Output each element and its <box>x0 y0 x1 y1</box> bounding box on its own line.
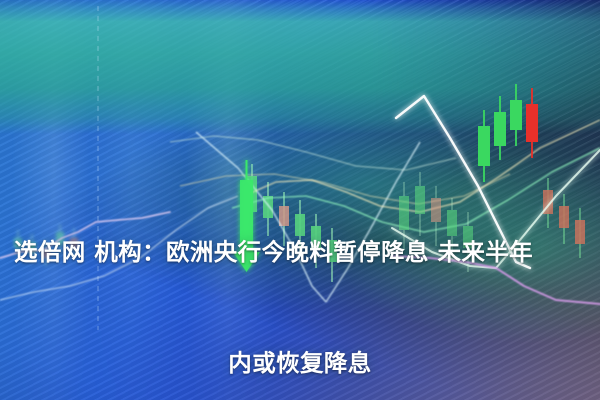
headline-line-2: 内或恢复降息 <box>12 345 588 382</box>
teal-band-overlay <box>0 0 600 134</box>
headline: 选倍网 机构：欧洲央行今晚料暂停降息 未来半年 内或恢复降息 <box>0 160 600 400</box>
news-banner: 选倍网 机构：欧洲央行今晚料暂停降息 未来半年 内或恢复降息 <box>0 0 600 400</box>
headline-line-1: 选倍网 机构：欧洲央行今晚料暂停降息 未来半年 <box>12 234 588 271</box>
